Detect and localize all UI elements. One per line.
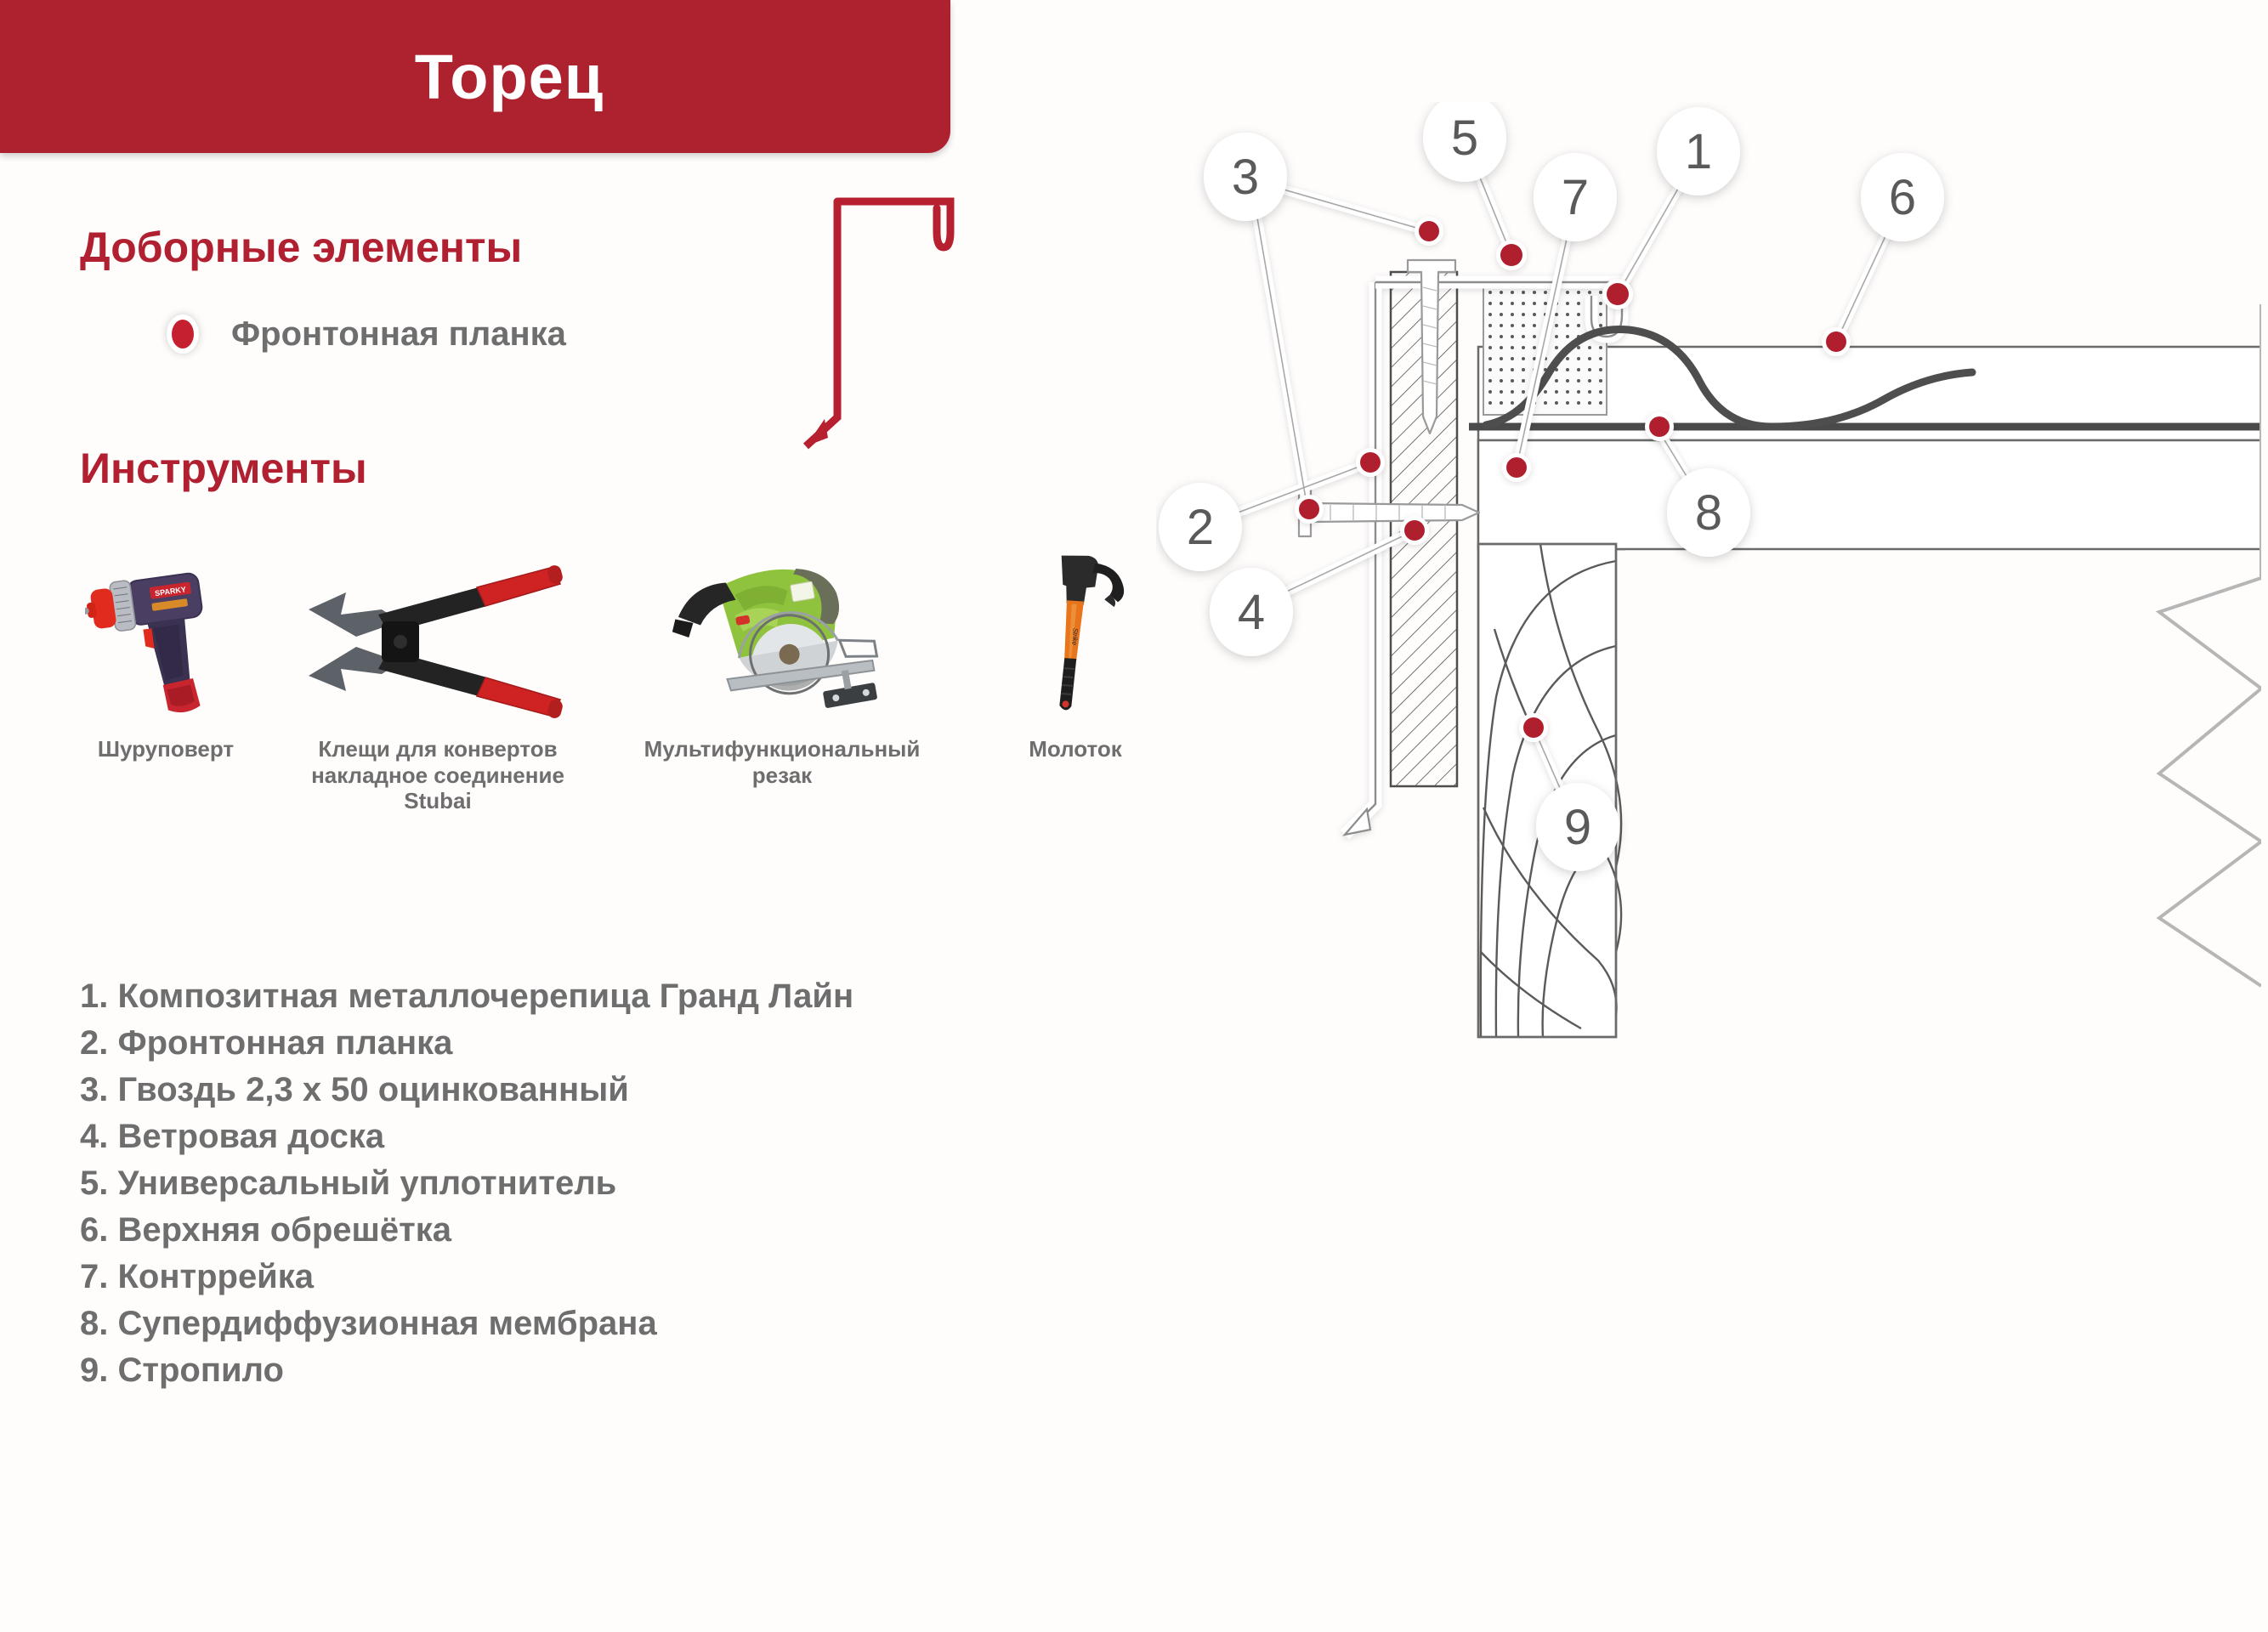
callout-3[interactable]: 3 xyxy=(1204,133,1287,221)
tools-row: SPARKY xyxy=(60,548,1190,837)
legend-item: 2. Фронтонная планка xyxy=(80,1020,853,1067)
legend-item: 9. Стропило xyxy=(80,1347,853,1394)
front-plank-profile-svg xyxy=(791,191,986,455)
legend-list: 1. Композитная металлочерепица Гранд Лай… xyxy=(80,973,853,1394)
tool-item-pliers: Клещи для конвертов накладное соединение… xyxy=(272,548,604,814)
tool-label-pliers: Клещи для конвертов накладное соединение… xyxy=(272,736,604,814)
callout-7[interactable]: 7 xyxy=(1534,153,1617,241)
callout-2[interactable]: 2 xyxy=(1159,483,1242,571)
additional-element-row: Фронтонная планка xyxy=(167,314,566,354)
callout-4[interactable]: 4 xyxy=(1210,568,1293,656)
callout-number-2: 2 xyxy=(1187,500,1214,555)
additional-element-label: Фронтонная планка xyxy=(231,315,566,354)
circular-saw-icon xyxy=(604,548,961,731)
callout-9[interactable]: 9 xyxy=(1536,783,1619,871)
legend-item: 4. Ветровая доска xyxy=(80,1113,853,1160)
header-bar: Торец xyxy=(0,0,950,153)
callout-number-1: 1 xyxy=(1685,124,1712,179)
svg-text:Strike: Strike xyxy=(1070,627,1079,646)
callout-1[interactable]: 1 xyxy=(1657,107,1740,195)
seaming-pliers-icon xyxy=(272,548,604,731)
diagram-structure xyxy=(1299,260,2261,1037)
legend-item: 3. Гвоздь 2,3 х 50 оцинкованный xyxy=(80,1067,853,1113)
marker-dot-3b xyxy=(1295,495,1324,524)
marker-dot-4 xyxy=(1400,516,1429,545)
marker-dot-8 xyxy=(1645,412,1674,441)
tool-label-drill: Шуруповерт xyxy=(60,736,272,762)
marker-dot-7 xyxy=(1502,453,1531,482)
callout-number-9: 9 xyxy=(1564,800,1591,855)
legend-item: 8. Супердиффузионная мембрана xyxy=(80,1300,853,1347)
legend-item: 7. Контррейка xyxy=(80,1254,853,1300)
tool-item-cutter: Мультифункциональный резак xyxy=(604,548,961,788)
legend-item: 1. Композитная металлочерепица Гранд Лай… xyxy=(80,973,853,1020)
marker-dot-9 xyxy=(1519,713,1548,742)
callout-number-8: 8 xyxy=(1695,485,1722,541)
section-heading-tools: Инструменты xyxy=(80,444,367,493)
callout-8[interactable]: 8 xyxy=(1667,468,1750,557)
tool-item-drill: SPARKY xyxy=(60,548,272,762)
slide-root: Торец Доборные элементы Фронтонная планк… xyxy=(0,0,2268,1632)
diagram-svg: 3 5 7 1 6 xyxy=(1156,102,2261,1598)
page-title: Торец xyxy=(415,41,604,113)
section-heading-additional-elements: Доборные элементы xyxy=(80,223,522,272)
callout-number-5: 5 xyxy=(1451,110,1478,166)
cordless-drill-icon: SPARKY xyxy=(60,548,272,731)
legend-item: 5. Универсальный уплотнитель xyxy=(80,1160,853,1207)
callout-number-6: 6 xyxy=(1889,170,1916,225)
callout-number-4: 4 xyxy=(1238,585,1265,640)
legend-item: 6. Верхняя обрешётка xyxy=(80,1207,853,1254)
callout-number-7: 7 xyxy=(1562,170,1589,225)
front-plank-profile-sketch xyxy=(791,191,986,455)
callout-5[interactable]: 5 xyxy=(1423,102,1506,182)
marker-dot-5 xyxy=(1496,240,1527,270)
marker-dot-6 xyxy=(1822,327,1851,356)
marker-dot-3a xyxy=(1415,217,1443,246)
callout-number-3: 3 xyxy=(1232,150,1259,205)
technical-diagram: 3 5 7 1 6 xyxy=(1156,102,2261,1598)
callout-6[interactable]: 6 xyxy=(1861,153,1944,241)
marker-dot-2 xyxy=(1356,448,1385,477)
bullet-dot-icon xyxy=(167,314,199,354)
marker-dot-1 xyxy=(1602,279,1633,309)
tool-label-cutter: Мультифункциональный резак xyxy=(604,736,961,788)
part-membrane xyxy=(1469,423,2261,427)
